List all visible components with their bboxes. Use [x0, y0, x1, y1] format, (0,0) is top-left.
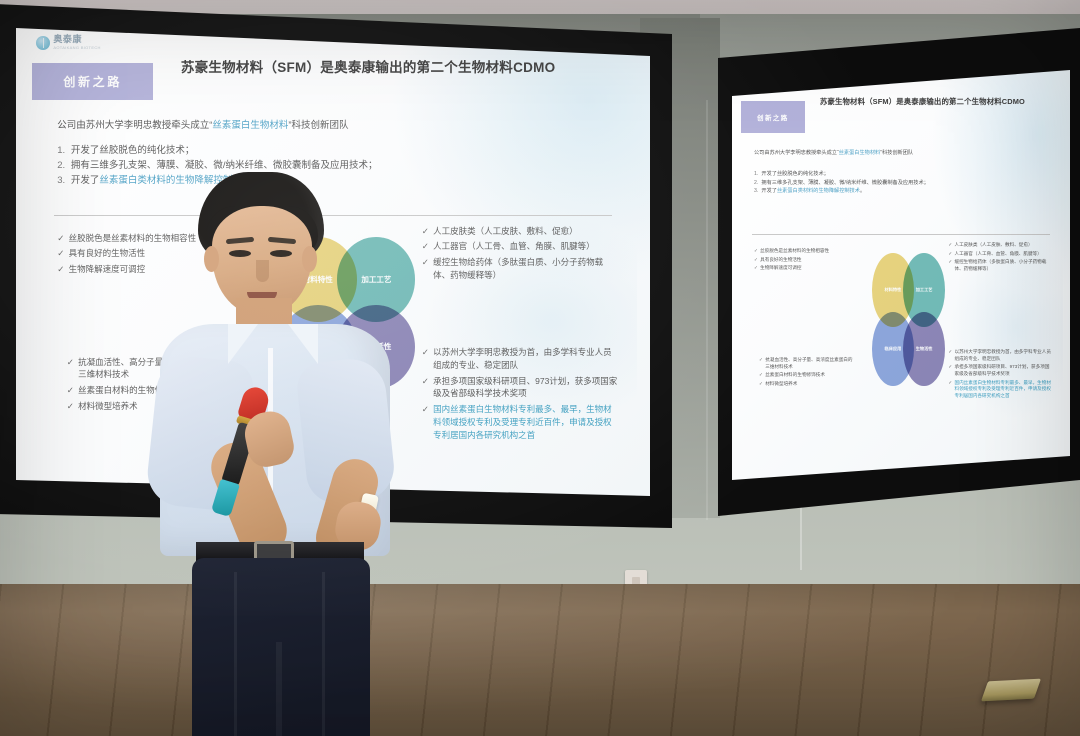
check-item: ✓ 国内丝素蛋白生物材料专利最多、最早，生物材料领域授权专利及受理专利近百件，申…: [422, 403, 619, 441]
check-item: ✓ 生物降解速度可调控: [754, 265, 855, 272]
numbered-item-text-before: 开发了: [71, 145, 100, 156]
logo-company-en: AOTAIKANG BIOTECH: [53, 46, 100, 50]
numbered-item-text-before: 开发了: [761, 188, 777, 194]
check-icon: ✓: [57, 232, 64, 245]
check-item-label: 国内丝素蛋白生物材料专利最多、最早，生物材料领域授权专利及受理专利近百件，申请及…: [954, 380, 1053, 401]
lead-text-after: ”科技创新团队: [288, 120, 348, 131]
slide-title: 苏豪生物材料（SFM）是奥泰康输出的第二个生物材料CDMO: [181, 58, 574, 78]
check-item-label: 国内丝素蛋白生物材料专利最多、最早，生物材料领域授权专利及受理专利近百件，申请及…: [433, 403, 618, 441]
check-item-label: 承担多项国家级科研项目、973计划，获多项国家级及省部级科学技术奖项: [954, 364, 1053, 378]
cardboard-piece-on-floor: [981, 679, 1041, 702]
presenter-ear-right: [302, 246, 317, 272]
checklist-right-bottom: ✓ 以苏州大学李明忠教授为首，由多学科专业人员组成的专业、稳定团队 ✓ 承担多项…: [422, 346, 619, 444]
check-item: ✓ 丝素蛋白材料的生物修饰技术: [759, 372, 854, 379]
logo-mark-icon: [36, 36, 50, 50]
numbered-item-number: 3.: [754, 187, 758, 195]
check-item: ✓ 人工器官（人工骨、血管、角膜、肌腱等）: [948, 251, 1053, 258]
check-item-label: 抗凝血活性、高分子量、高浓度丝素蛋白的三维材料技术: [765, 357, 853, 371]
lead-text-after: ”科技创新团队: [880, 150, 913, 156]
check-icon: ✓: [759, 357, 763, 371]
trouser-crease-left: [234, 572, 237, 736]
slide-lead-paragraph: 公司由苏州大学李明忠教授牵头成立“丝素蛋白生物材料”科技创新团队: [754, 150, 1051, 158]
numbered-item: 1. 开发了丝胶脱色的纯化技术；: [754, 170, 1065, 178]
check-icon: ✓: [57, 247, 64, 260]
check-item-label: 具有良好的生物活性: [760, 257, 855, 264]
presenter-ear-left: [204, 246, 219, 272]
venn-circle-bioactivity: 生物活性: [903, 312, 945, 386]
company-logo: 奥泰康 AOTAIKANG BIOTECH: [743, 77, 782, 86]
check-item-label: 丝素蛋白材料的生物修饰技术: [765, 372, 853, 379]
trouser-leg-split: [276, 642, 282, 736]
check-icon: ✓: [754, 257, 758, 264]
check-item: ✓ 人工器官（人工骨、血管、角膜、肌腱等）: [422, 240, 619, 253]
check-icon: ✓: [948, 364, 952, 378]
slide-title: 苏豪生物材料（SFM）是奥泰康输出的第二个生物材料CDMO: [820, 97, 1030, 108]
numbered-item-text-before: 拥有三维多孔支架、薄膜、凝胶、微/纳米纤维、微胶囊制备及应用技术；: [761, 180, 928, 186]
check-item: ✓ 人工皮肤类（人工皮肤、敷料、促愈）: [422, 225, 619, 238]
check-item-label: 人工皮肤类（人工皮肤、敷料、促愈）: [433, 225, 618, 238]
numbered-item-text: 开发了丝素蛋白类材料的生物降解控制技术。: [761, 187, 865, 195]
logo-text: 奥泰康 AOTAIKANG BIOTECH: [752, 77, 782, 86]
numbered-item-text-after: 丝胶脱色的纯化技术；: [777, 171, 829, 177]
check-item-label: 材料微型培养术: [765, 381, 853, 388]
numbered-list: 1. 开发了丝胶脱色的纯化技术； 2. 拥有三维多孔支架、薄膜、凝胶、微/纳米纤…: [754, 170, 1065, 195]
conference-room-photo: 奥泰康 AOTAIKANG BIOTECH 创新之路 苏豪生物材料（SFM）是奥…: [0, 0, 1080, 736]
numbered-item-text-highlight: 丝素蛋白类材料的生物降解控制技术: [777, 188, 860, 194]
checklist-right-bottom: ✓ 以苏州大学李明忠教授为首，由多学科专业人员组成的专业、稳定团队 ✓ 承担多项…: [948, 349, 1053, 402]
section-badge: 创新之路: [32, 63, 152, 100]
check-icon: ✓: [67, 400, 74, 413]
check-item: ✓ 丝胶脱色是丝素材料的生物相容性: [754, 248, 855, 255]
numbered-item-number: 3.: [57, 173, 65, 188]
numbered-item-number: 2.: [754, 179, 758, 187]
numbered-item-text: 开发了丝胶脱色的纯化技术；: [71, 143, 195, 158]
check-item: ✓ 缓控生物给药体（多肽蛋白质、小分子药物载体、药物缓释等）: [422, 256, 619, 282]
check-item: ✓ 以苏州大学李明忠教授为首，由多学科专业人员组成的专业、稳定团队: [422, 346, 619, 372]
check-item-label: 生物降解速度可调控: [760, 265, 855, 272]
check-item: ✓ 承担多项国家级科研项目、973计划，获多项国家级及省部级科学技术奖项: [422, 375, 619, 401]
presenter-nose: [256, 260, 269, 282]
presenter-eye-right: [270, 250, 292, 257]
check-icon: ✓: [67, 356, 74, 382]
logo-company-cn: 奥泰康: [752, 77, 782, 82]
numbered-item-number: 1.: [57, 143, 65, 158]
company-logo: 奥泰康 AOTAIKANG BIOTECH: [36, 35, 100, 50]
numbered-item: 2. 拥有三维多孔支架、薄膜、凝胶、微/纳米纤维、微胶囊制备及应用技术；: [754, 179, 1065, 187]
check-item-label: 人工器官（人工骨、血管、角膜、肌腱等）: [433, 240, 618, 253]
numbered-item-text: 拥有三维多孔支架、薄膜、凝胶、微/纳米纤维、微胶囊制备及应用技术；: [761, 179, 928, 187]
logo-company-cn: 奥泰康: [53, 35, 100, 44]
check-item: ✓ 抗凝血活性、高分子量、高浓度丝素蛋白的三维材料技术: [759, 357, 854, 371]
check-item-label: 以苏州大学李明忠教授为首，由多学科专业人员组成的专业、稳定团队: [954, 349, 1053, 363]
slide-divider: [752, 234, 1049, 235]
numbered-item-text-after: 。: [860, 188, 865, 194]
numbered-item: 3. 开发了丝素蛋白类材料的生物降解控制技术。: [754, 187, 1065, 195]
slide-canvas-right: 奥泰康 AOTAIKANG BIOTECH 创新之路 苏豪生物材料（SFM）是奥…: [732, 70, 1070, 480]
check-icon: ✓: [759, 372, 763, 379]
check-icon: ✓: [57, 263, 64, 276]
check-icon: ✓: [948, 251, 952, 258]
venn-diagram: 材料特性 加工工艺 临床应用 生物活性: [871, 250, 945, 398]
presenter-collar-left: [228, 324, 258, 364]
check-item: ✓ 国内丝素蛋白生物材料专利最多、最早，生物材料领域授权专利及受理专利近百件，申…: [948, 380, 1053, 401]
check-item: ✓ 以苏州大学李明忠教授为首，由多学科专业人员组成的专业、稳定团队: [948, 349, 1053, 363]
numbered-item-number: 2.: [57, 158, 65, 173]
projected-slide-right: 奥泰康 AOTAIKANG BIOTECH 创新之路 苏豪生物材料（SFM）是奥…: [732, 70, 1070, 480]
checklist-right-top: ✓ 人工皮肤类（人工皮肤、敷料、促愈） ✓ 人工器官（人工骨、血管、角膜、肌腱等…: [422, 225, 619, 285]
check-item-label: 人工皮肤类（人工皮肤、敷料、促愈）: [954, 242, 1053, 249]
slide-lead-paragraph: 公司由苏州大学李明忠教授牵头成立“丝素蛋白生物材料”科技创新团队: [57, 119, 615, 133]
check-icon: ✓: [754, 248, 758, 255]
numbered-item-text: 开发了丝胶脱色的纯化技术；: [761, 170, 828, 178]
trouser-crease-right: [322, 572, 325, 736]
check-icon: ✓: [948, 242, 952, 249]
check-item-label: 缓控生物给药体（多肽蛋白质、小分子药物载体、药物缓释等）: [433, 256, 618, 282]
presenter-eye-left: [229, 250, 251, 257]
numbered-item-text-before: 开发了: [71, 175, 100, 186]
check-item: ✓ 具有良好的生物活性: [754, 257, 855, 264]
check-item-label: 缓控生物给药体（多肽蛋白质、小分子药物载体、药物缓释等）: [954, 259, 1053, 273]
checklist-left-bottom: ✓ 抗凝血活性、高分子量、高浓度丝素蛋白的三维材料技术 ✓ 丝素蛋白材料的生物修…: [759, 357, 854, 389]
lead-text-highlight: 丝素蛋白生物材料: [839, 150, 881, 156]
section-badge: 创新之路: [741, 101, 805, 133]
check-item-label: 人工器官（人工骨、血管、角膜、肌腱等）: [954, 251, 1053, 258]
lead-text-before: 公司由苏州大学李明忠教授牵头成立“: [57, 120, 212, 131]
lead-text-before: 公司由苏州大学李明忠教授牵头成立“: [754, 150, 839, 156]
lead-text-highlight: 丝素蛋白生物材料: [212, 120, 288, 131]
check-item-label: 以苏州大学李明忠教授为首，由多学科专业人员组成的专业、稳定团队: [433, 346, 618, 372]
numbered-item-text-after: 丝胶脱色的纯化技术；: [99, 145, 194, 156]
check-item: ✓ 材料微型培养术: [759, 381, 854, 388]
check-item: ✓ 缓控生物给药体（多肽蛋白质、小分子药物载体、药物缓释等）: [948, 259, 1053, 273]
numbered-item: 1. 开发了丝胶脱色的纯化技术；: [57, 143, 628, 158]
check-item: ✓ 承担多项国家级科研项目、973计划，获多项国家级及省部级科学技术奖项: [948, 364, 1053, 378]
check-item-label: 丝胶脱色是丝素材料的生物相容性: [760, 248, 855, 255]
numbered-item-text-before: 开发了: [761, 171, 777, 177]
check-icon: ✓: [754, 265, 758, 272]
check-icon: ✓: [948, 349, 952, 363]
wall-seam-upper: [706, 100, 708, 520]
logo-company-en: AOTAIKANG BIOTECH: [752, 83, 782, 86]
presenter: [150, 172, 440, 736]
check-icon: ✓: [759, 381, 763, 388]
checklist-left-top: ✓ 丝胶脱色是丝素材料的生物相容性 ✓ 具有良好的生物活性 ✓ 生物降解速度可调…: [754, 248, 855, 274]
presenter-collar-right: [288, 324, 318, 364]
numbered-item-text-before: 拥有三维多孔支架、薄膜、凝胶、微/纳米纤维、微胶囊制备及应用技术；: [71, 160, 378, 171]
checklist-right-top: ✓ 人工皮肤类（人工皮肤、敷料、促愈） ✓ 人工器官（人工骨、血管、角膜、肌腱等…: [948, 242, 1053, 274]
logo-mark-icon: [743, 77, 751, 85]
check-icon: ✓: [948, 380, 952, 401]
numbered-item-number: 1.: [754, 170, 758, 178]
projection-screen-right: 奥泰康 AOTAIKANG BIOTECH 创新之路 苏豪生物材料（SFM）是奥…: [718, 28, 1080, 516]
logo-text: 奥泰康 AOTAIKANG BIOTECH: [53, 35, 100, 50]
check-item: ✓ 人工皮肤类（人工皮肤、敷料、促愈）: [948, 242, 1053, 249]
check-icon: ✓: [948, 259, 952, 273]
check-item-label: 承担多项国家级科研项目、973计划，获多项国家级及省部级科学技术奖项: [433, 375, 618, 401]
check-icon: ✓: [67, 384, 74, 397]
